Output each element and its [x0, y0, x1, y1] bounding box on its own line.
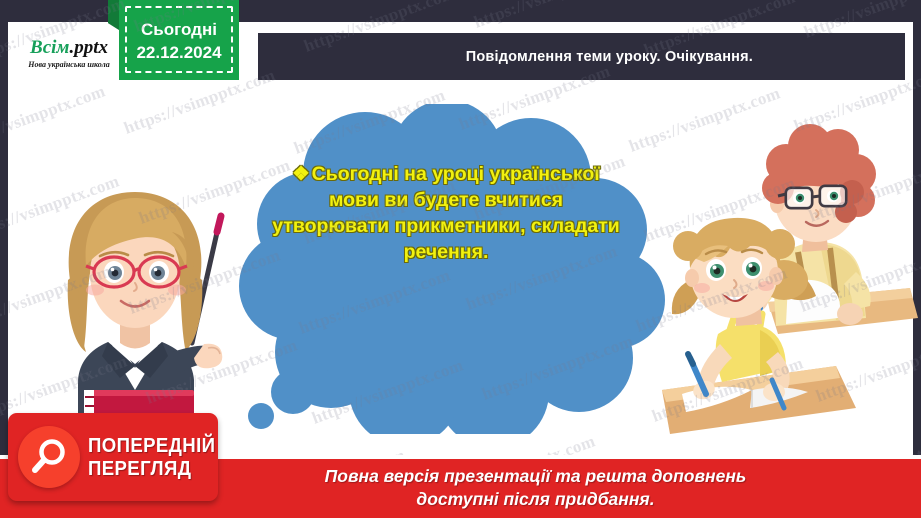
teacher-with-pointer-illustration — [22, 168, 252, 430]
bullet-icon: ❖ — [292, 163, 309, 185]
presentation-slide: ❖Сьогодні на уроці української мови ви б… — [0, 0, 921, 518]
brand-logo-title: Всім.pptx — [30, 38, 108, 57]
date-badge-value: 22.12.2024 — [136, 42, 221, 65]
date-badge: Сьогодні 22.12.2024 — [119, 0, 239, 80]
preview-badge[interactable]: ПОПЕРЕДНІЙ ПЕРЕГЛЯД — [8, 413, 218, 501]
cloud-message-body: Сьогодні на уроці української мови ви бу… — [272, 163, 620, 263]
preview-badge-line1: ПОПЕРЕДНІЙ — [88, 436, 215, 456]
purchase-notice-line2: доступні після придбання. — [150, 488, 921, 511]
brand-logo-title-main: Всім — [30, 37, 69, 58]
brand-logo-subtitle: Нова українська школа — [28, 60, 109, 69]
thought-cloud-bubble — [235, 104, 665, 434]
preview-badge-labels: ПОПЕРЕДНІЙ ПЕРЕГЛЯД — [88, 436, 225, 479]
brand-logo-title-ext: .pptx — [69, 37, 108, 58]
purchase-notice-line1: Повна версія презентації та решта доповн… — [150, 465, 921, 488]
page-title: Повідомлення теми уроку. Очікування. — [466, 49, 753, 65]
preview-badge-line2: ПЕРЕГЛЯД — [88, 459, 215, 479]
slide-header-bar: Повідомлення теми уроку. Очікування. — [258, 33, 905, 80]
brand-logo: Всім.pptx Нова українська школа — [8, 22, 130, 84]
date-badge-label: Сьогодні — [141, 19, 217, 42]
magnifier-icon — [18, 426, 80, 488]
children-illustration — [660, 112, 921, 442]
cloud-message-text: ❖Сьогодні на уроці української мови ви б… — [268, 162, 624, 266]
